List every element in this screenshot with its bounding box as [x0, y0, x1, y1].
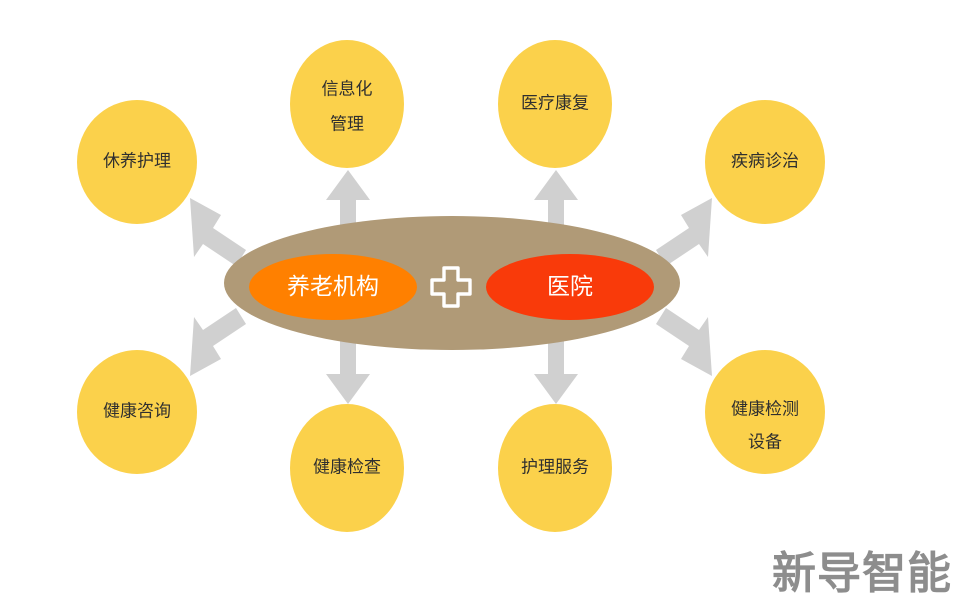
arrow-up-right-disease-diagnosis [656, 198, 712, 266]
node-disease-diagnosis-treatment[interactable]: 疾病诊治 [705, 100, 825, 224]
hub-group[interactable]: 养老机构 + 医院 [224, 216, 680, 350]
hub-left-label: 养老机构 [287, 273, 379, 299]
node-label-line-2: 管理 [330, 114, 364, 133]
node-label-line-2: 设备 [748, 432, 782, 451]
hub-right-label: 医院 [547, 273, 593, 299]
node-circle[interactable] [290, 40, 404, 168]
arrow-down-left-health-consultation [190, 308, 246, 376]
watermark-logo: 新导智能 [772, 552, 952, 596]
integration-diagram: 养老机构 + 医院 休养护理 信息化 管理 医疗康复 疾病诊治 [0, 0, 960, 600]
diagram-canvas: 养老机构 + 医院 休养护理 信息化 管理 医疗康复 疾病诊治 [0, 0, 960, 600]
node-label-line-1: 医疗康复 [521, 93, 589, 112]
node-informatization-management[interactable]: 信息化 管理 [290, 40, 404, 168]
node-health-consultation[interactable]: 健康咨询 [77, 350, 197, 474]
node-label-line-1: 疾病诊治 [731, 151, 799, 170]
node-nursing-service[interactable]: 护理服务 [498, 404, 612, 532]
node-medical-rehabilitation[interactable]: 医疗康复 [498, 40, 612, 168]
node-health-monitoring-equipment[interactable]: 健康检测 设备 [705, 350, 825, 474]
node-convalescent-care[interactable]: 休养护理 [77, 100, 197, 224]
node-label-line-1: 健康检测 [731, 399, 799, 418]
arrow-down-right-health-monitoring [656, 308, 712, 376]
arrow-up-left-convalescent-care [190, 198, 246, 266]
node-label-line-1: 护理服务 [521, 457, 589, 476]
node-label-line-1: 休养护理 [103, 151, 171, 170]
node-label-line-1: 健康检查 [313, 457, 381, 476]
node-label-line-1: 健康咨询 [103, 401, 171, 420]
node-health-examination[interactable]: 健康检查 [290, 404, 404, 532]
node-label-line-1: 信息化 [322, 79, 373, 98]
